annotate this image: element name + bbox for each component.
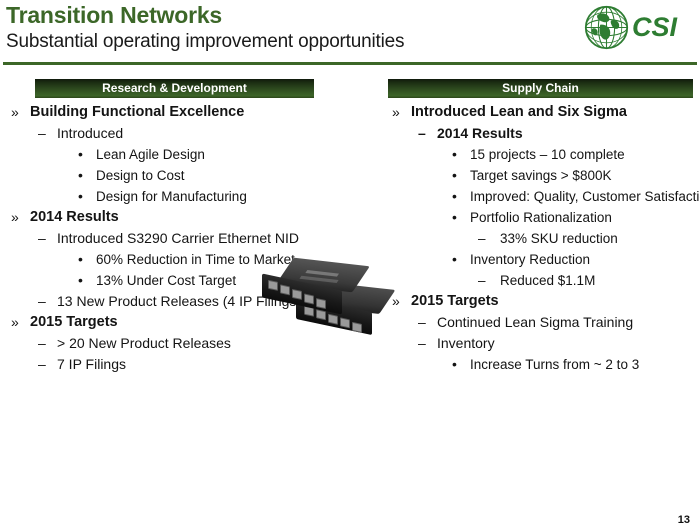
bullet-marker-icon: •	[78, 166, 83, 185]
bullet-item: –7 IP Filings	[0, 355, 370, 374]
bullet-marker-icon: •	[452, 187, 457, 206]
bullet-item: –Continued Lean Sigma Training	[375, 313, 700, 332]
bullet-text: Design to Cost	[96, 166, 370, 185]
bullet-text: Introduced Lean and Six Sigma	[411, 103, 700, 122]
bullet-marker-icon: »	[11, 103, 19, 122]
bullet-marker-icon: –	[418, 313, 426, 332]
bullet-text: 7 IP Filings	[57, 355, 370, 374]
bullet-marker-icon: •	[452, 208, 457, 227]
bullet-text: Portfolio Rationalization	[470, 208, 700, 227]
slide-header: Transition Networks Substantial operatin…	[0, 0, 700, 68]
bullet-marker-icon: –	[418, 334, 426, 353]
port-icon	[352, 322, 362, 333]
bullet-item: •Increase Turns from ~ 2 to 3	[375, 355, 700, 374]
bullet-marker-icon: •	[78, 145, 83, 164]
bullet-marker-icon: •	[452, 250, 457, 269]
bullet-item: –Introduced S3290 Carrier Ethernet NID	[0, 229, 302, 248]
bullet-item: •15 projects – 10 complete	[375, 145, 700, 164]
bullet-text: Building Functional Excellence	[30, 103, 370, 122]
title-divider	[3, 62, 697, 65]
bullet-item: –Inventory	[375, 334, 700, 353]
bullet-item: •Inventory Reduction	[375, 250, 700, 269]
brand-logo: CSI	[574, 3, 692, 53]
bullet-item: •Target savings > $800K	[375, 166, 700, 185]
bullet-item: –2014 Results	[375, 124, 700, 143]
product-photo-network-devices	[254, 256, 388, 340]
bullet-marker-icon: •	[452, 145, 457, 164]
bullet-marker-icon: »	[11, 208, 19, 227]
bullet-text: 2014 Results	[30, 208, 370, 227]
bullet-item: •Lean Agile Design	[0, 145, 370, 164]
bullet-item: »Introduced Lean and Six Sigma	[375, 103, 700, 122]
section-header-research-development: Research & Development	[35, 79, 314, 98]
bullet-text: Target savings > $800K	[470, 166, 700, 185]
bullet-marker-icon: –	[38, 334, 46, 353]
bullet-text: Design for Manufacturing	[96, 187, 370, 206]
brand-wordmark: CSI	[632, 12, 677, 43]
bullet-marker-icon: –	[38, 124, 46, 143]
bullet-item: •Design to Cost	[0, 166, 370, 185]
port-icon	[292, 289, 302, 300]
bullet-item: •Design for Manufacturing	[0, 187, 370, 206]
bullet-marker-icon: –	[418, 124, 426, 143]
port-icon	[340, 317, 350, 328]
bullet-item: •Portfolio Rationalization	[375, 208, 700, 227]
bullet-marker-icon: –	[38, 292, 46, 311]
bullet-marker-icon: –	[478, 229, 486, 248]
bullet-marker-icon: •	[452, 355, 457, 374]
device-label	[305, 270, 339, 277]
bullet-text: Continued Lean Sigma Training	[437, 313, 700, 332]
bullet-marker-icon: •	[78, 187, 83, 206]
bullet-text: 33% SKU reduction	[500, 229, 700, 248]
supply-chain-bullet-list: »Introduced Lean and Six Sigma–2014 Resu…	[375, 103, 700, 376]
bullet-marker-icon: »	[392, 292, 400, 311]
bullet-item: »2015 Targets	[375, 292, 700, 311]
bullet-text: Introduced	[57, 124, 370, 143]
globe-icon	[584, 5, 629, 50]
page-subtitle: Substantial operating improvement opport…	[6, 31, 404, 53]
port-icon	[328, 314, 338, 325]
bullet-marker-icon: •	[452, 166, 457, 185]
page-title: Transition Networks	[6, 2, 222, 29]
bullet-text: Inventory Reduction	[470, 250, 700, 269]
bullet-text: Improved: Quality, Customer Satisfaction	[470, 187, 700, 206]
bullet-item: –Introduced	[0, 124, 370, 143]
bullet-item: –Reduced $1.1M	[375, 271, 700, 290]
bullet-marker-icon: •	[78, 271, 83, 290]
bullet-marker-icon: –	[38, 229, 46, 248]
bullet-item: »Building Functional Excellence	[0, 103, 370, 122]
bullet-marker-icon: »	[392, 103, 400, 122]
page-number: 13	[678, 514, 690, 526]
bullet-marker-icon: –	[478, 271, 486, 290]
bullet-item: –33% SKU reduction	[375, 229, 700, 248]
bullet-text: Reduced $1.1M	[500, 271, 700, 290]
bullet-marker-icon: »	[11, 313, 19, 332]
bullet-text: Introduced S3290 Carrier Ethernet NID	[57, 229, 302, 248]
port-icon	[316, 298, 326, 309]
port-icon	[280, 284, 290, 295]
bullet-text: Increase Turns from ~ 2 to 3	[470, 355, 700, 374]
bullet-text: 2015 Targets	[411, 292, 700, 311]
port-icon	[304, 293, 314, 304]
bullet-marker-icon: •	[78, 250, 83, 269]
bullet-item: »2014 Results	[0, 208, 370, 227]
bullet-item: •Improved: Quality, Customer Satisfactio…	[375, 187, 700, 206]
section-header-supply-chain: Supply Chain	[388, 79, 693, 98]
bullet-marker-icon: –	[38, 355, 46, 374]
bullet-text: 2014 Results	[437, 124, 700, 143]
bullet-text: 15 projects – 10 complete	[470, 145, 700, 164]
bullet-text: Inventory	[437, 334, 700, 353]
bullet-text: Lean Agile Design	[96, 145, 370, 164]
port-icon	[268, 280, 278, 291]
